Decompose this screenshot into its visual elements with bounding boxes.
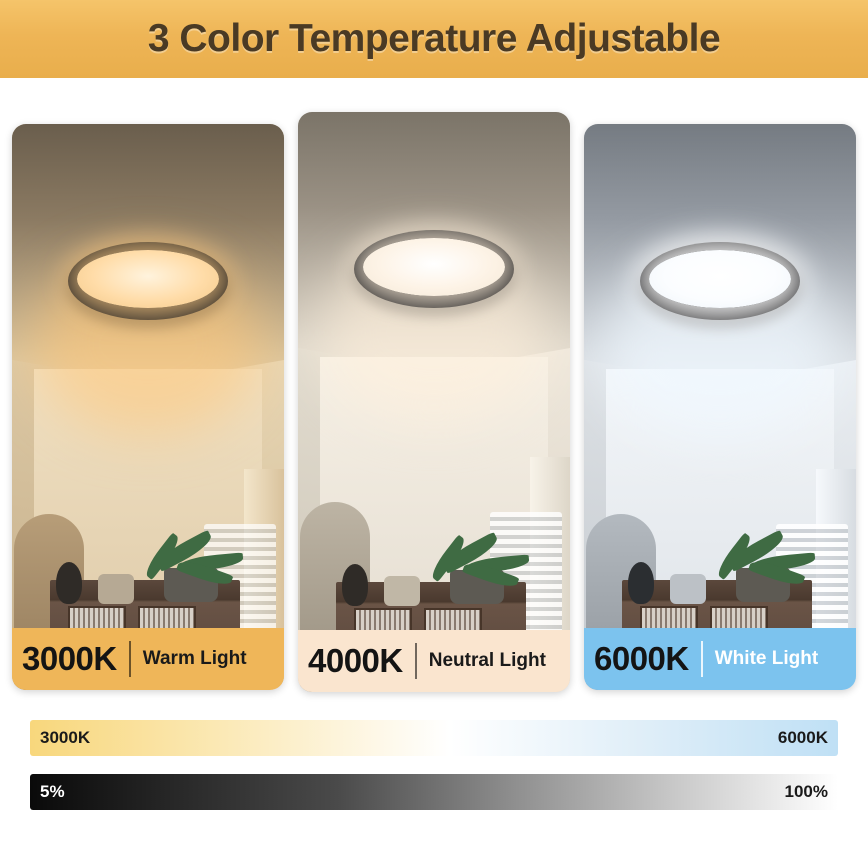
lamp-housing	[354, 230, 514, 308]
lamp-housing	[640, 242, 800, 320]
kelvin-bar-left-label: 3000K	[40, 728, 90, 748]
dimming-bar-right-label: 100%	[785, 782, 828, 802]
kelvin-value: 6000K	[594, 640, 689, 678]
lamp-lens	[649, 250, 791, 308]
label-bar-4000k: 4000K Neutral Light	[298, 630, 570, 692]
light-name: Warm Light	[143, 648, 247, 670]
kelvin-bar-right-label: 6000K	[778, 728, 828, 748]
vase-tall	[342, 564, 368, 606]
light-name: Neutral Light	[429, 650, 546, 672]
light-name: White Light	[715, 648, 818, 670]
ceiling-lamp	[68, 242, 228, 320]
color-temperature-panels: 3000K Warm Light	[0, 112, 868, 692]
vase-short	[670, 574, 706, 604]
vase-short	[98, 574, 134, 604]
lamp-housing	[68, 242, 228, 320]
panel-4000k[interactable]: 4000K Neutral Light	[298, 112, 570, 692]
label-bar-6000k: 6000K White Light	[584, 628, 856, 690]
scale-bars: 3000K 6000K 5% 100%	[30, 720, 838, 828]
label-bar-3000k: 3000K Warm Light	[12, 628, 284, 690]
lamp-lens	[363, 238, 505, 296]
room-scene-neutral	[298, 112, 570, 692]
room-scene-warm	[12, 124, 284, 690]
color-temperature-bar[interactable]: 3000K 6000K	[30, 720, 838, 756]
lamp-lens	[77, 250, 219, 308]
page-title: 3 Color Temperature Adjustable	[148, 17, 720, 61]
room-scene-white	[584, 124, 856, 690]
label-divider	[701, 641, 703, 677]
dimming-bar-left-label: 5%	[40, 782, 65, 802]
vase-tall	[56, 562, 82, 604]
vase-short	[384, 576, 420, 606]
vase-tall	[628, 562, 654, 604]
label-divider	[129, 641, 131, 677]
label-divider	[415, 643, 417, 679]
panel-3000k[interactable]: 3000K Warm Light	[12, 124, 284, 690]
kelvin-value: 3000K	[22, 640, 117, 678]
header-banner: 3 Color Temperature Adjustable	[0, 0, 868, 78]
dimming-bar[interactable]: 5% 100%	[30, 774, 838, 810]
ceiling-lamp	[640, 242, 800, 320]
panel-6000k[interactable]: 6000K White Light	[584, 124, 856, 690]
ceiling-lamp	[354, 230, 514, 308]
kelvin-value: 4000K	[308, 642, 403, 680]
